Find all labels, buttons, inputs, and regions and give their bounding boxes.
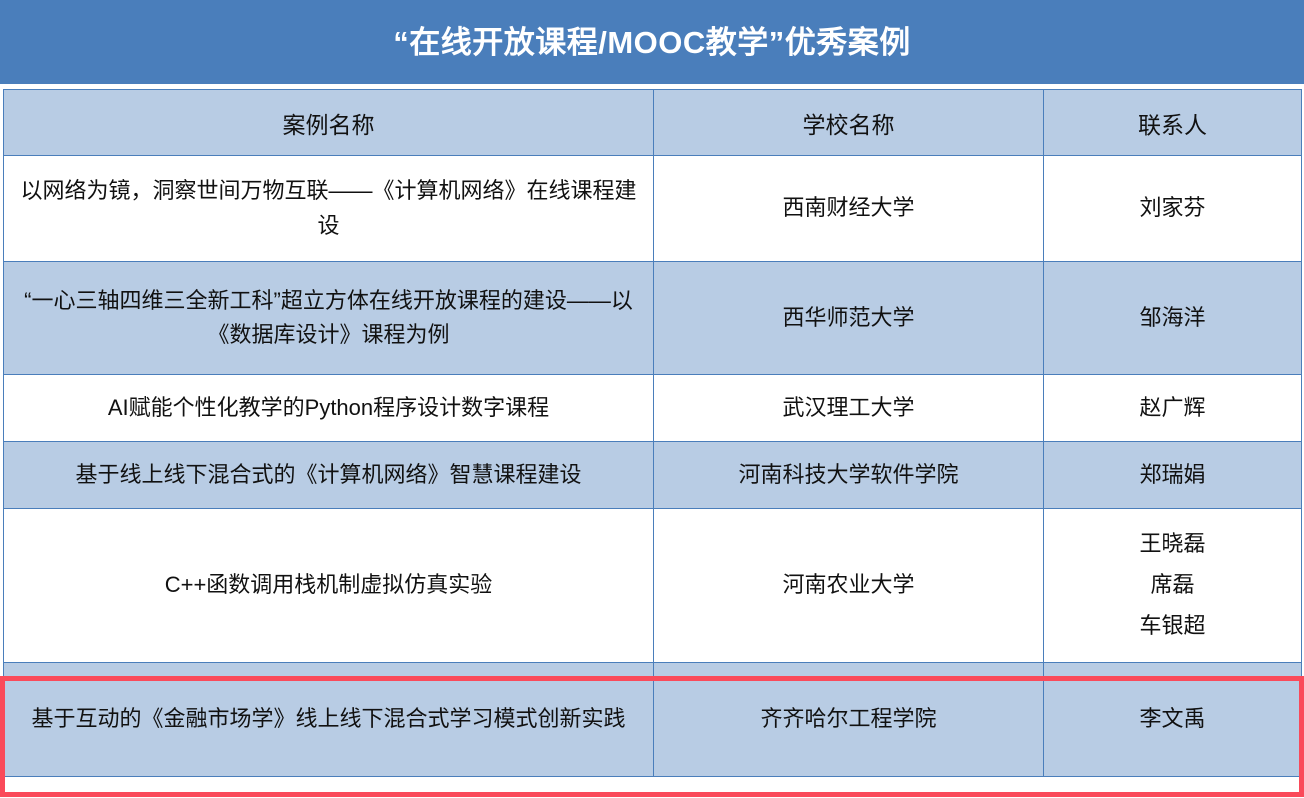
cell-contact: 郑瑞娟: [1044, 442, 1302, 509]
cell-contact: 刘家芬: [1044, 156, 1302, 262]
cell-school-name: 河南农业大学: [654, 509, 1044, 663]
cell-school-name: 齐齐哈尔工程学院: [654, 663, 1044, 777]
cell-contact: 王晓磊 席磊 车银超: [1044, 509, 1302, 663]
case-list-page: “在线开放课程/MOOC教学”优秀案例 案例名称 学校名称 联系人 以网络为镜，…: [0, 0, 1304, 798]
cell-case-name: 基于互动的《金融市场学》线上线下混合式学习模式创新实践: [4, 663, 654, 777]
cell-case-name: 以网络为镜，洞察世间万物互联——《计算机网络》在线课程建设: [4, 156, 654, 262]
cell-case-name: 基于线上线下混合式的《计算机网络》智慧课程建设: [4, 442, 654, 509]
cell-case-name: “一心三轴四维三全新工科”超立方体在线开放课程的建设——以《数据库设计》课程为例: [4, 262, 654, 375]
cell-case-name: AI赋能个性化教学的Python程序设计数字课程: [4, 375, 654, 442]
table-row[interactable]: AI赋能个性化教学的Python程序设计数字课程 武汉理工大学 赵广辉: [4, 375, 1302, 442]
table-row[interactable]: C++函数调用栈机制虚拟仿真实验 河南农业大学 王晓磊 席磊 车银超: [4, 509, 1302, 663]
contact-line: 席磊: [1054, 565, 1291, 606]
cases-table-container: 案例名称 学校名称 联系人 以网络为镜，洞察世间万物互联——《计算机网络》在线课…: [3, 89, 1301, 777]
cell-school-name: 河南科技大学软件学院: [654, 442, 1044, 509]
table-row[interactable]: “一心三轴四维三全新工科”超立方体在线开放课程的建设——以《数据库设计》课程为例…: [4, 262, 1302, 375]
page-title-banner: “在线开放课程/MOOC教学”优秀案例: [0, 0, 1304, 84]
column-header-contact: 联系人: [1044, 90, 1302, 156]
column-header-case-name: 案例名称: [4, 90, 654, 156]
table-row[interactable]: 以网络为镜，洞察世间万物互联——《计算机网络》在线课程建设 西南财经大学 刘家芬: [4, 156, 1302, 262]
cell-contact: 赵广辉: [1044, 375, 1302, 442]
cell-case-name: C++函数调用栈机制虚拟仿真实验: [4, 509, 654, 663]
page-title: “在线开放课程/MOOC教学”优秀案例: [393, 27, 911, 58]
contact-line: 王晓磊: [1054, 524, 1291, 565]
cases-table: 案例名称 学校名称 联系人 以网络为镜，洞察世间万物互联——《计算机网络》在线课…: [3, 89, 1302, 777]
cell-contact: 邹海洋: [1044, 262, 1302, 375]
table-row-highlighted[interactable]: 基于互动的《金融市场学》线上线下混合式学习模式创新实践 齐齐哈尔工程学院 李文禹: [4, 663, 1302, 777]
cell-school-name: 武汉理工大学: [654, 375, 1044, 442]
table-header-row: 案例名称 学校名称 联系人: [4, 90, 1302, 156]
column-header-school-name: 学校名称: [654, 90, 1044, 156]
cell-school-name: 西华师范大学: [654, 262, 1044, 375]
cell-school-name: 西南财经大学: [654, 156, 1044, 262]
contact-line: 车银超: [1054, 606, 1291, 647]
table-row[interactable]: 基于线上线下混合式的《计算机网络》智慧课程建设 河南科技大学软件学院 郑瑞娟: [4, 442, 1302, 509]
cell-contact: 李文禹: [1044, 663, 1302, 777]
